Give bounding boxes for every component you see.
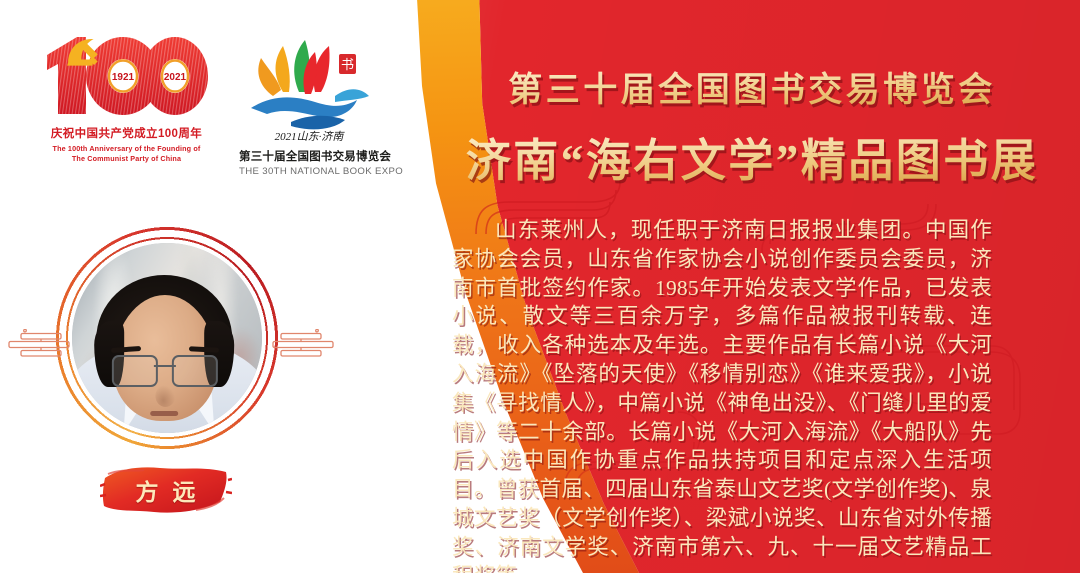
cpc-year-2021-text: 2021 bbox=[164, 72, 187, 83]
expo-cn-caption: 第三十届全国图书交易博览会 bbox=[239, 148, 379, 164]
expo-en-caption: THE 30TH NATIONAL BOOK EXPO bbox=[239, 166, 379, 177]
poster-canvas: 1921 2021 bbox=[0, 0, 1080, 573]
expo-seal-char: 书 bbox=[341, 57, 354, 72]
author-name-seal: 方 远 bbox=[100, 462, 232, 518]
bracket-ornament-right-icon bbox=[272, 329, 334, 363]
photo-glasses bbox=[112, 355, 218, 385]
author-name-char-1: 方 bbox=[136, 473, 160, 507]
headline-line-1: 第三十届全国图书交易博览会 bbox=[452, 62, 1052, 111]
headline-block: 第三十届全国图书交易博览会 济南“海右文学”精品图书展 bbox=[452, 62, 1052, 189]
author-portrait bbox=[53, 224, 281, 452]
cpc-100th-anniversary-logo: 1921 2021 bbox=[44, 34, 209, 165]
book-expo-flame-icon: 书 bbox=[239, 34, 379, 146]
bracket-ornament-left-icon bbox=[8, 329, 70, 363]
author-name-label: 方 远 bbox=[100, 462, 232, 518]
author-bio-paragraph: 山东莱州人，现任职于济南日报报业集团。中国作家协会会员，山东省作家协会小说创作委… bbox=[452, 216, 992, 573]
photo-glasses-bridge bbox=[154, 365, 176, 367]
headline-line-2: 济南“海右文学”精品图书展 bbox=[452, 124, 1052, 189]
cpc-en-caption-line2: The Communist Party of China bbox=[44, 154, 209, 164]
cpc-en-caption-line1: The 100th Anniversary of the Founding of bbox=[44, 144, 209, 154]
author-portrait-photo bbox=[72, 243, 262, 433]
book-expo-mark: 书 bbox=[239, 34, 379, 142]
cpc-100-icon: 1921 2021 bbox=[44, 34, 209, 120]
cpc-cn-caption: 庆祝中国共产党成立100周年 bbox=[44, 125, 209, 141]
photo-mouth bbox=[150, 411, 178, 416]
photo-lens-right bbox=[172, 355, 218, 387]
cpc-year-1921-text: 1921 bbox=[112, 72, 135, 83]
photo-nose bbox=[155, 385, 175, 407]
book-expo-logo: 书 2021山东·济南 第三十届全国图书交易博览会 THE 30TH NATIO… bbox=[239, 34, 379, 177]
cpc-en-caption: The 100th Anniversary of the Founding of… bbox=[44, 144, 209, 165]
cpc-100-mark: 1921 2021 bbox=[44, 34, 209, 120]
photo-lens-left bbox=[112, 355, 158, 387]
logo-row: 1921 2021 bbox=[44, 34, 379, 177]
author-name-char-2: 远 bbox=[173, 473, 197, 507]
